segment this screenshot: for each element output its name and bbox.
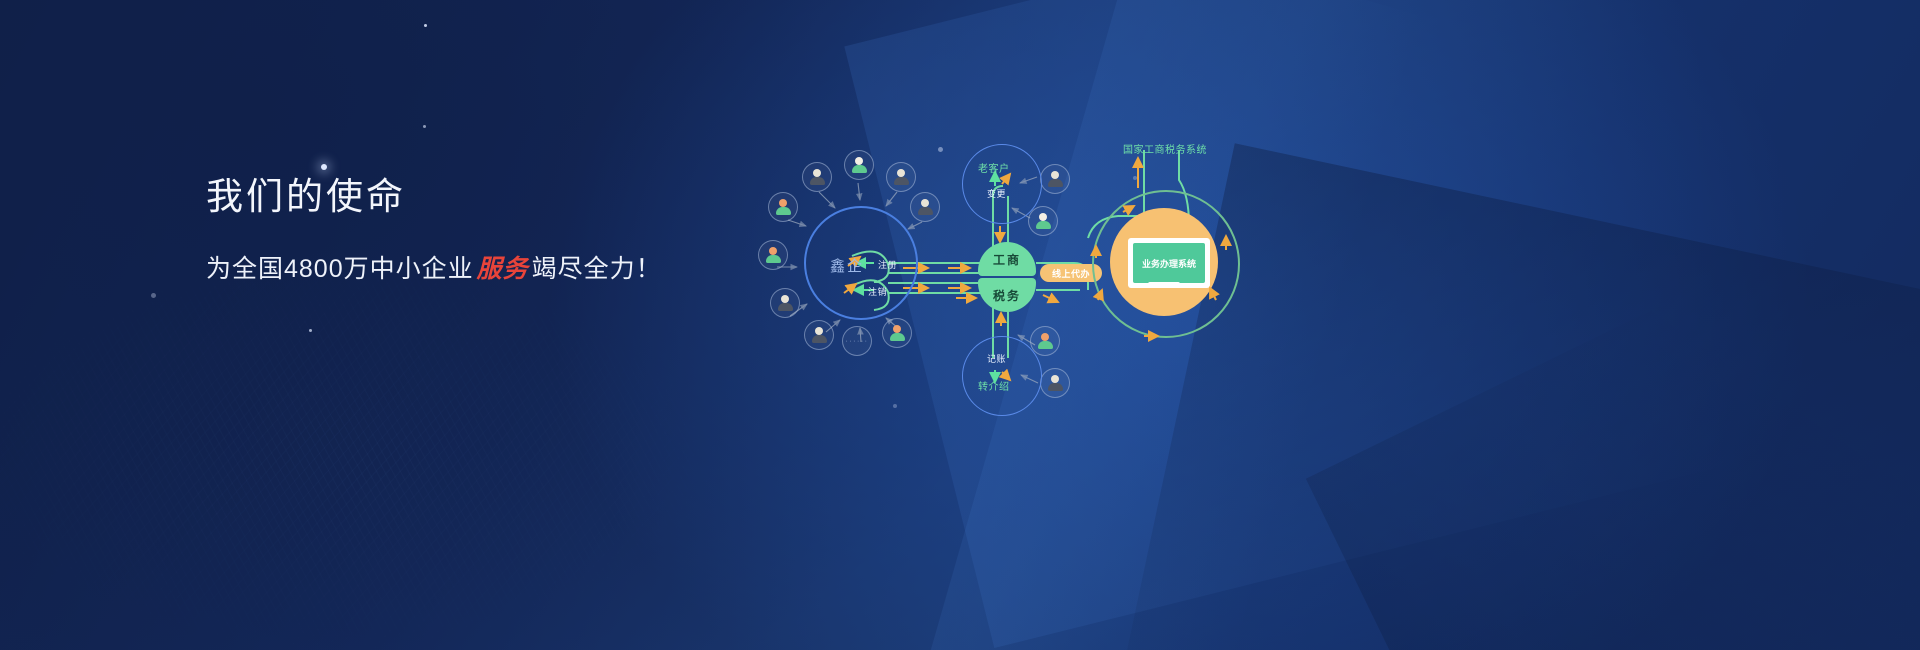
sparkle-dot bbox=[423, 125, 426, 128]
subtitle-prefix: 为全国4800万中小企业 bbox=[206, 255, 474, 283]
hero-copy: 我们的使命 为全国4800万中小企业服务竭尽全力！ bbox=[206, 178, 662, 285]
subtitle-suffix: 竭尽全力！ bbox=[532, 255, 662, 283]
hero-banner: 我们的使命 为全国4800万中小企业服务竭尽全力！ bbox=[0, 0, 1920, 650]
subtitle-highlight: 服务 bbox=[474, 255, 532, 283]
sparkle-dot bbox=[309, 329, 312, 332]
service-flow-diagram: ······ 鑫企 注册 注销 老客户 变更 记账 转介绍 工商 税务 线上代办… bbox=[740, 130, 1260, 420]
system-ring-arrows bbox=[740, 130, 1260, 430]
sparkle-dot bbox=[321, 164, 327, 170]
sparkle-dot bbox=[151, 293, 156, 298]
sparkle-dot bbox=[424, 24, 427, 27]
background-facet-3 bbox=[1306, 172, 1920, 650]
background-mesh-texture bbox=[0, 250, 840, 650]
page-title: 我们的使命 bbox=[206, 178, 662, 215]
hero-subtitle: 为全国4800万中小企业服务竭尽全力！ bbox=[206, 249, 662, 285]
